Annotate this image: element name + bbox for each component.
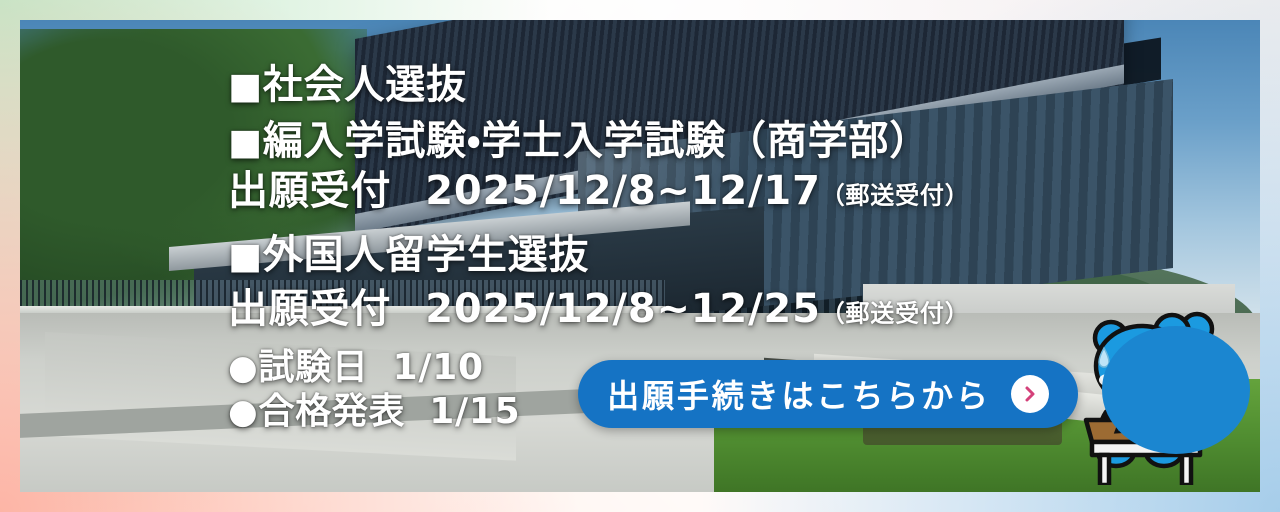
mascot-desk-leg-left [1100,455,1109,485]
application-period-note: （郵送受付） [821,300,970,328]
round-bullet-icon: ● [228,392,258,432]
square-bullet-icon: ■ [228,122,263,163]
mascot-desk-leg-right [1182,455,1191,485]
application-period-label: 出願受付 [228,286,391,332]
announcement-line-shakaijin: ■社会人選抜 [228,52,467,110]
application-period-note: （郵送受付） [821,182,970,210]
schedule-value: 1/15 [429,391,520,432]
mascot-background-blob [1102,326,1250,454]
schedule-label: 合格発表 [258,391,405,432]
application-period-transfer: 出願受付2025/12/8~12/17（郵送受付） [228,158,970,216]
application-period-dates: 2025/12/8~12/17 [425,168,821,214]
announcement-text: 外国人留学生選抜 [263,232,589,278]
admissions-banner: ■社会人選抜 ■編入学試験・学士入学試験（商学部） 出願受付2025/12/8~… [0,0,1280,512]
application-period-label: 出願受付 [228,168,391,214]
announcement-text: 社会人選抜 [263,62,467,108]
blue-bear-mascot [1080,300,1265,485]
apply-now-button-label: 出願手続きはこちらから [607,371,991,417]
apply-now-button[interactable]: 出願手続きはこちらから [578,360,1078,428]
chevron-right-icon [1011,375,1049,413]
application-period-international: 出願受付2025/12/8~12/25（郵送受付） [228,276,970,334]
announcement-line-international: ■外国人留学生選抜 [228,222,589,280]
application-period-dates: 2025/12/8~12/25 [425,286,821,332]
schedule-result-date: ●合格発表1/15 [228,382,520,434]
square-bullet-icon: ■ [228,236,263,277]
square-bullet-icon: ■ [228,66,263,107]
